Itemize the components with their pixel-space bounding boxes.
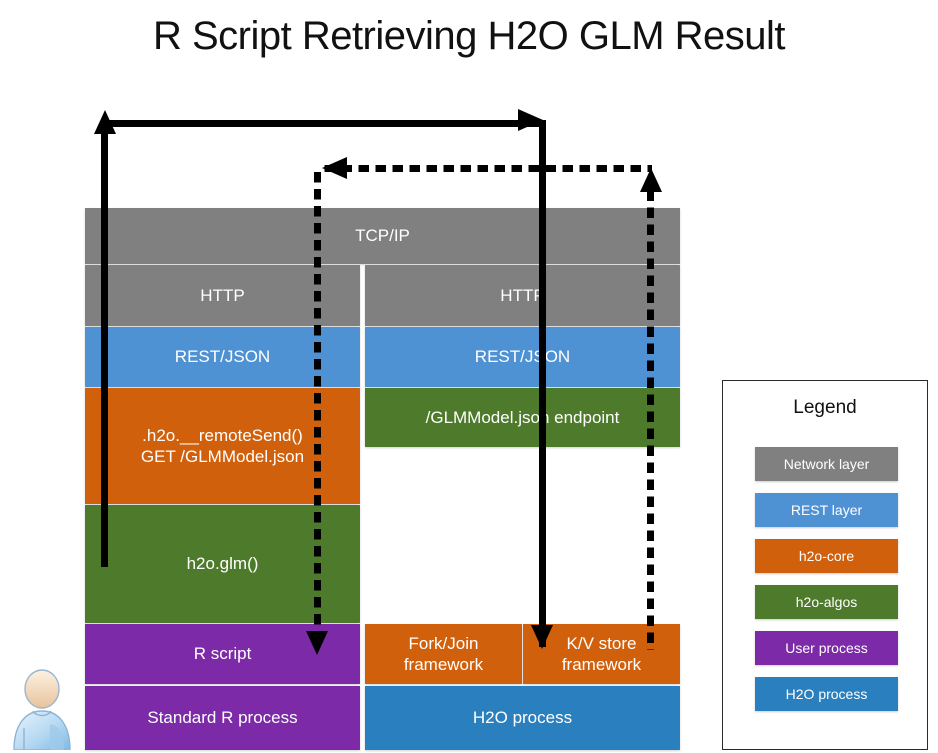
block-fork-join-line2: framework: [404, 655, 483, 674]
block-rest-json-right-label: REST/JSON: [475, 346, 570, 367]
legend-item-label: REST layer: [791, 502, 862, 518]
legend-item-label: User process: [785, 640, 867, 656]
request-arrow-right-segment: [539, 123, 546, 647]
block-http-right: HTTP: [365, 265, 680, 326]
legend-item-h2o-process: H2O process: [755, 677, 898, 711]
arrow-right-icon: [518, 109, 543, 131]
arrow-down-dashed-icon: [306, 631, 328, 655]
block-standard-r-process: Standard R process: [85, 686, 360, 750]
block-remote-send-line2: GET /GLMModel.json: [141, 447, 304, 466]
block-glmmodel-endpoint-label: /GLMModel.json endpoint: [426, 407, 620, 428]
request-arrow-left-segment: [101, 127, 108, 567]
block-h2o-glm-label: h2o.glm(): [187, 553, 259, 574]
legend-item-rest-layer: REST layer: [755, 493, 898, 527]
block-rest-json-left-label: REST/JSON: [175, 346, 270, 367]
arrow-up-icon: [94, 110, 116, 134]
response-arrow-left-segment: [314, 168, 321, 635]
block-kv-store-line2: framework: [562, 655, 641, 674]
legend-item-network-layer: Network layer: [755, 447, 898, 481]
user-avatar-icon: [6, 668, 78, 750]
block-http-left-label: HTTP: [200, 285, 244, 306]
legend-item-label: h2o-core: [799, 548, 854, 564]
legend-item-label: h2o-algos: [796, 594, 858, 610]
block-r-script-label: R script: [194, 643, 252, 664]
arrow-down-icon: [531, 625, 553, 649]
block-glmmodel-endpoint: /GLMModel.json endpoint: [365, 388, 680, 447]
response-arrow-top-segment: [320, 165, 652, 172]
legend-item-label: H2O process: [786, 686, 868, 702]
legend: Legend Network layer REST layer h2o-core…: [722, 380, 928, 750]
arrow-up-dashed-icon: [640, 168, 662, 192]
legend-item-label: Network layer: [784, 456, 870, 472]
page-title: R Script Retrieving H2O GLM Result: [0, 14, 938, 59]
block-fork-join-line1: Fork/Join: [409, 634, 479, 653]
block-kv-store-line1: K/V store: [567, 634, 637, 653]
legend-item-h2o-core: h2o-core: [755, 539, 898, 573]
block-tcpip-label: TCP/IP: [355, 225, 410, 246]
block-h2o-process: H2O process: [365, 686, 680, 750]
block-h2o-process-label: H2O process: [473, 707, 572, 728]
legend-item-user-process: User process: [755, 631, 898, 665]
arrow-left-icon: [322, 157, 347, 179]
block-rest-json-right: REST/JSON: [365, 327, 680, 387]
response-arrow-right-segment: [647, 190, 654, 650]
block-remote-send-line1: .h2o.__remoteSend(): [142, 426, 303, 445]
block-tcpip: TCP/IP: [85, 208, 680, 264]
request-arrow-top-segment: [104, 120, 546, 127]
legend-item-h2o-algos: h2o-algos: [755, 585, 898, 619]
block-fork-join-framework: Fork/Join framework: [365, 624, 522, 684]
block-standard-r-process-label: Standard R process: [147, 707, 297, 728]
legend-title: Legend: [723, 397, 927, 419]
